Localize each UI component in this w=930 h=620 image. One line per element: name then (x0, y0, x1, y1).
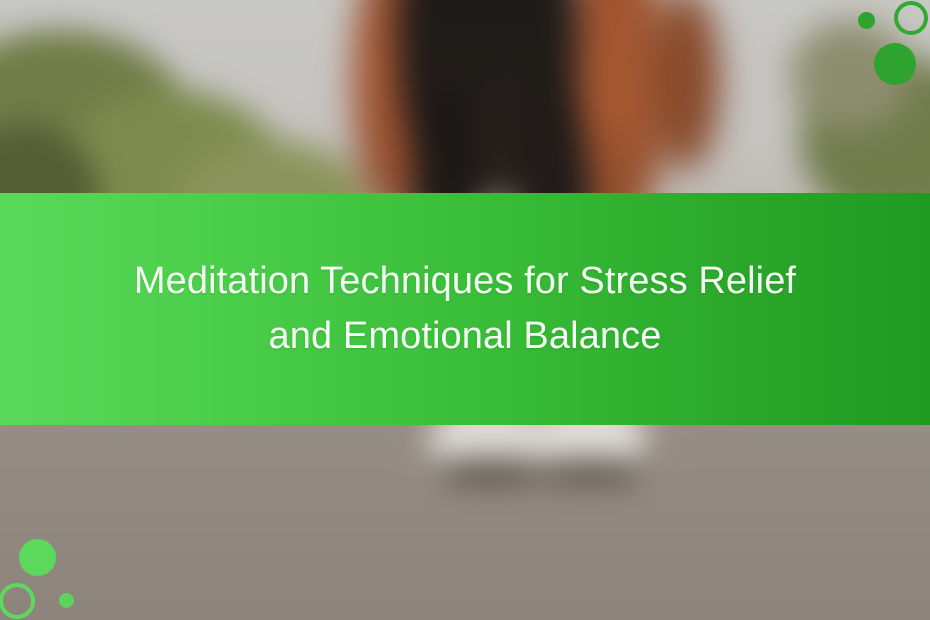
circle-decoration-icon (59, 593, 74, 608)
title-banner: Meditation Techniques for Stress Relief … (0, 193, 930, 425)
circle-decoration-icon (19, 539, 56, 576)
circle-decoration-icon (858, 12, 875, 29)
blog-post-hero-card: Meditation Techniques for Stress Relief … (0, 0, 930, 620)
ring-decoration-icon (894, 1, 928, 35)
ring-decoration-icon (0, 583, 35, 619)
circle-decoration-icon (874, 43, 916, 85)
page-title: Meditation Techniques for Stress Relief … (85, 254, 845, 364)
